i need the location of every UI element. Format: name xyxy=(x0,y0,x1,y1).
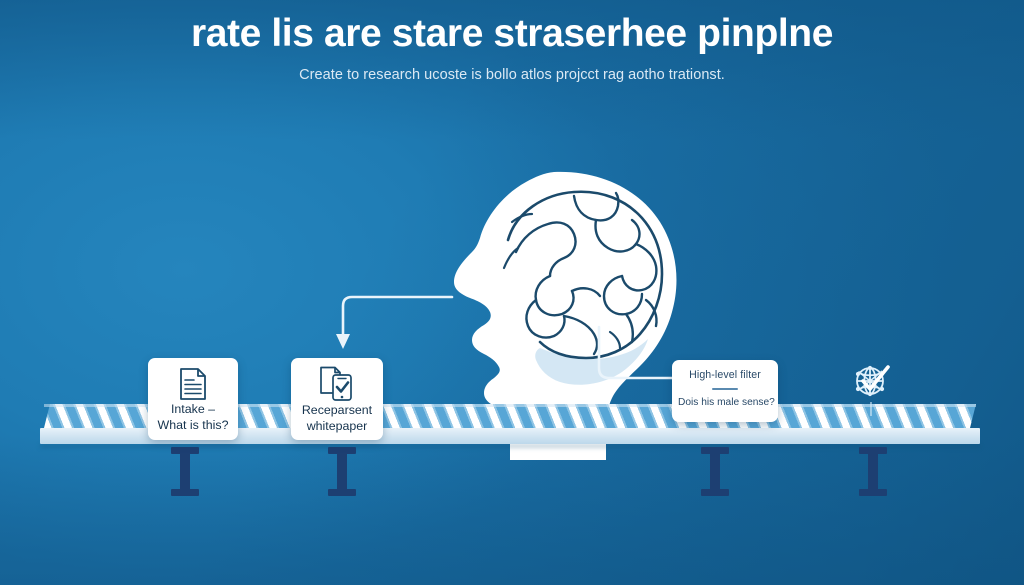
verified-globe-badge[interactable] xyxy=(847,357,895,405)
card-intake-label: Intake – What is this? xyxy=(154,401,232,434)
filter-card-subtitle: Dois his male sense? xyxy=(678,397,772,408)
globe-network-check-icon xyxy=(847,357,895,405)
filter-card-divider xyxy=(712,388,738,390)
page-title: rate lis are stare straserhee pinplne xyxy=(0,14,1024,55)
document-lines-icon xyxy=(178,367,208,401)
card-intake[interactable]: Intake – What is this? xyxy=(148,358,238,440)
belt-leg xyxy=(337,448,347,494)
header: rate lis are stare straserhee pinplne Cr… xyxy=(0,14,1024,83)
page-subtitle: Create to research ucoste is bollo atlos… xyxy=(0,67,1024,83)
card-whitepaper-label: Receparsent whitepaper xyxy=(296,402,378,435)
document-phone-check-icon xyxy=(318,366,356,402)
belt-leg xyxy=(868,448,878,494)
belt-leg xyxy=(180,448,190,494)
card-high-level-filter[interactable]: High-level filter Dois his male sense? xyxy=(672,360,778,422)
belt-leg xyxy=(710,448,720,494)
filter-card-title: High-level filter xyxy=(678,369,772,381)
card-whitepaper[interactable]: Receparsent whitepaper xyxy=(291,358,383,440)
illustration-canvas: rate lis are stare straserhee pinplne Cr… xyxy=(0,0,1024,585)
